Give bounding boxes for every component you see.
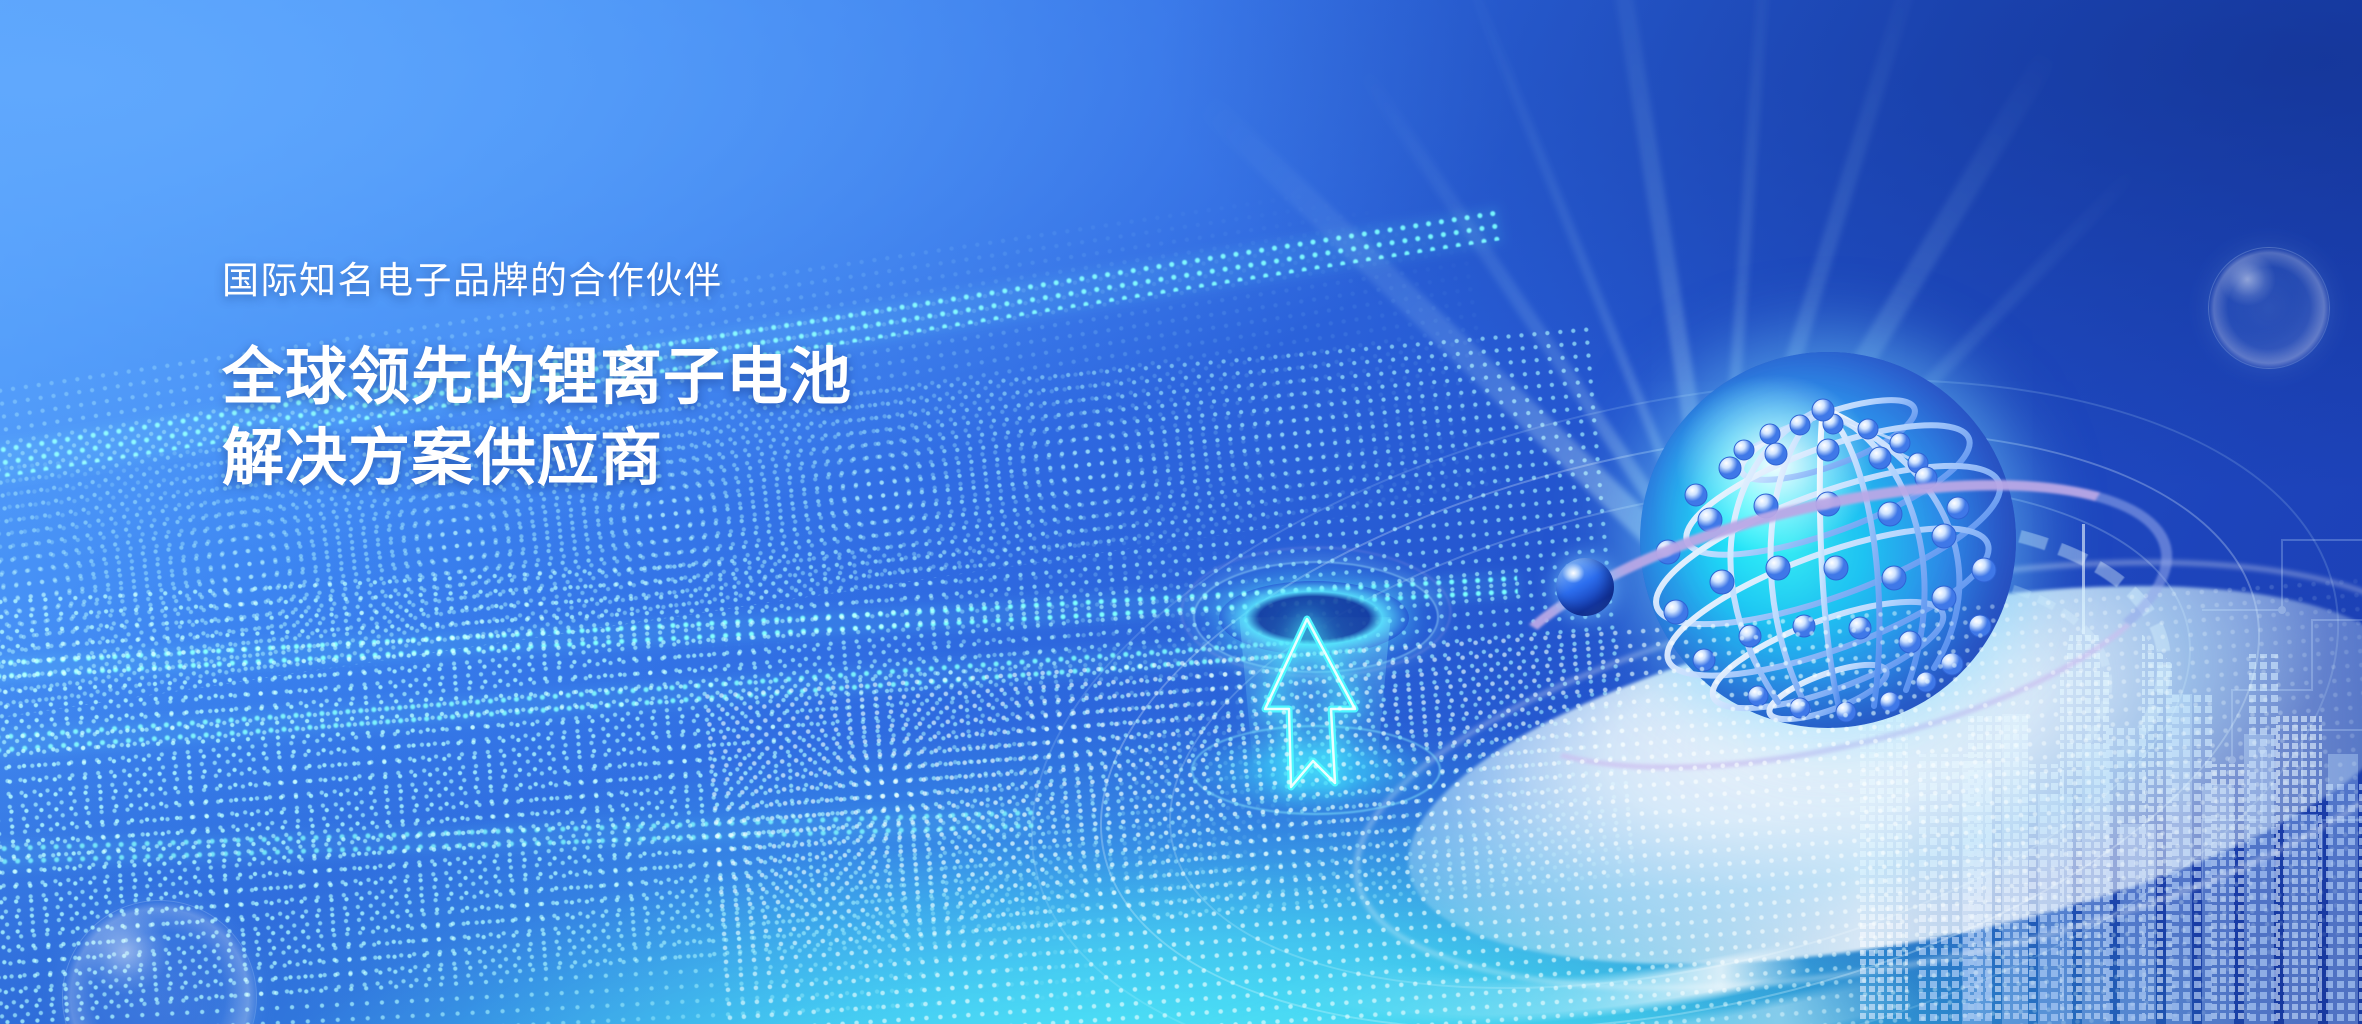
banner-eyebrow: 国际知名电子品牌的合作伙伴 [222, 258, 1122, 304]
headline-line-2: 解决方案供应商 [222, 419, 1122, 500]
headline-line-1: 全球领先的锂离子电池 [222, 338, 1122, 419]
orbit-node-icon [1556, 558, 1614, 616]
hero-copy: 国际知名电子品牌的合作伙伴 全球领先的锂离子电池 解决方案供应商 [222, 258, 1122, 499]
glass-bubble-icon [2208, 247, 2330, 369]
page-title: 全球领先的锂离子电池 解决方案供应商 [222, 338, 1122, 499]
hero-banner: 国际知名电子品牌的合作伙伴 全球领先的锂离子电池 解决方案供应商 [0, 0, 2362, 1024]
